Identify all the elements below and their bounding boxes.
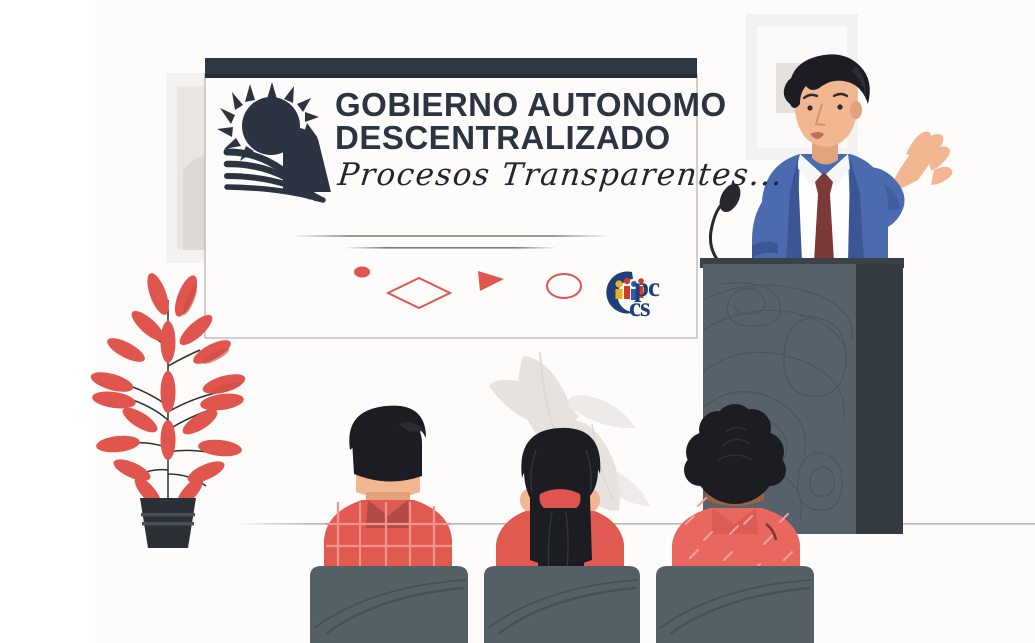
presentation-scene: GOBIERNO AUTONOMO DESCENTRALIZADO Proces… bbox=[0, 0, 1035, 643]
slide-divider-line-1 bbox=[292, 235, 610, 237]
chair-right bbox=[656, 566, 814, 643]
slide-tagline: Procesos Transparentes... bbox=[336, 157, 785, 193]
red-ellipse-dot bbox=[354, 267, 370, 278]
chair-center bbox=[484, 566, 640, 643]
slide-title-line-1: GOBIERNO AUTONOMO bbox=[335, 88, 727, 122]
cpccs-letters-bottom: cs bbox=[629, 292, 650, 323]
slide-divider-line-2 bbox=[345, 247, 557, 249]
chair-left bbox=[310, 566, 468, 643]
hair-tie bbox=[540, 489, 581, 511]
slide-title-line-2: DESCENTRALIZADO bbox=[335, 121, 671, 155]
